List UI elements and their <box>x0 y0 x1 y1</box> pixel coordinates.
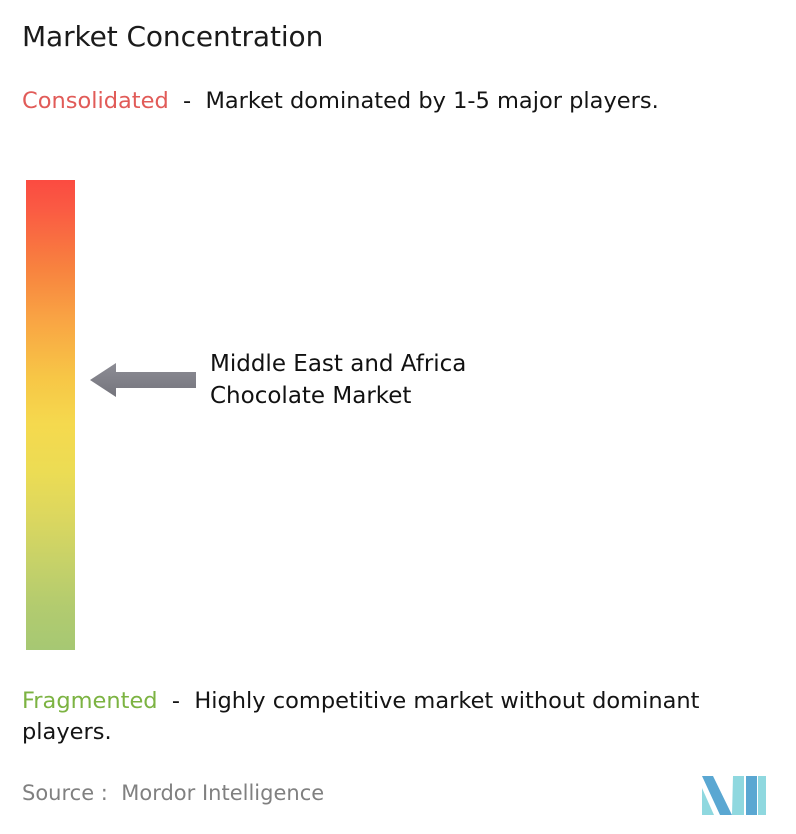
legend-consolidated-keyword: Consolidated <box>22 88 169 114</box>
source-label: Source : <box>22 781 108 805</box>
concentration-gradient-bar <box>26 180 75 650</box>
source-attribution: Source : Mordor Intelligence <box>22 779 324 807</box>
legend-fragmented-keyword: Fragmented <box>22 688 158 714</box>
pointer-label: Middle East and Africa Chocolate Market <box>210 348 466 412</box>
market-concentration-infographic: Market Concentration Consolidated - Mark… <box>0 0 796 834</box>
legend-consolidated-separator: - <box>169 88 206 114</box>
pointer-arrow-icon <box>90 362 196 398</box>
page-title: Market Concentration <box>22 19 323 55</box>
source-value: Mordor Intelligence <box>121 781 324 805</box>
legend-consolidated: Consolidated - Market dominated by 1-5 m… <box>22 86 778 117</box>
legend-consolidated-description: Market dominated by 1-5 major players. <box>205 88 658 114</box>
legend-fragmented-separator: - <box>158 688 195 714</box>
mordor-intelligence-logo-icon <box>702 772 766 816</box>
legend-fragmented: Fragmented - Highly competitive market w… <box>22 686 788 748</box>
